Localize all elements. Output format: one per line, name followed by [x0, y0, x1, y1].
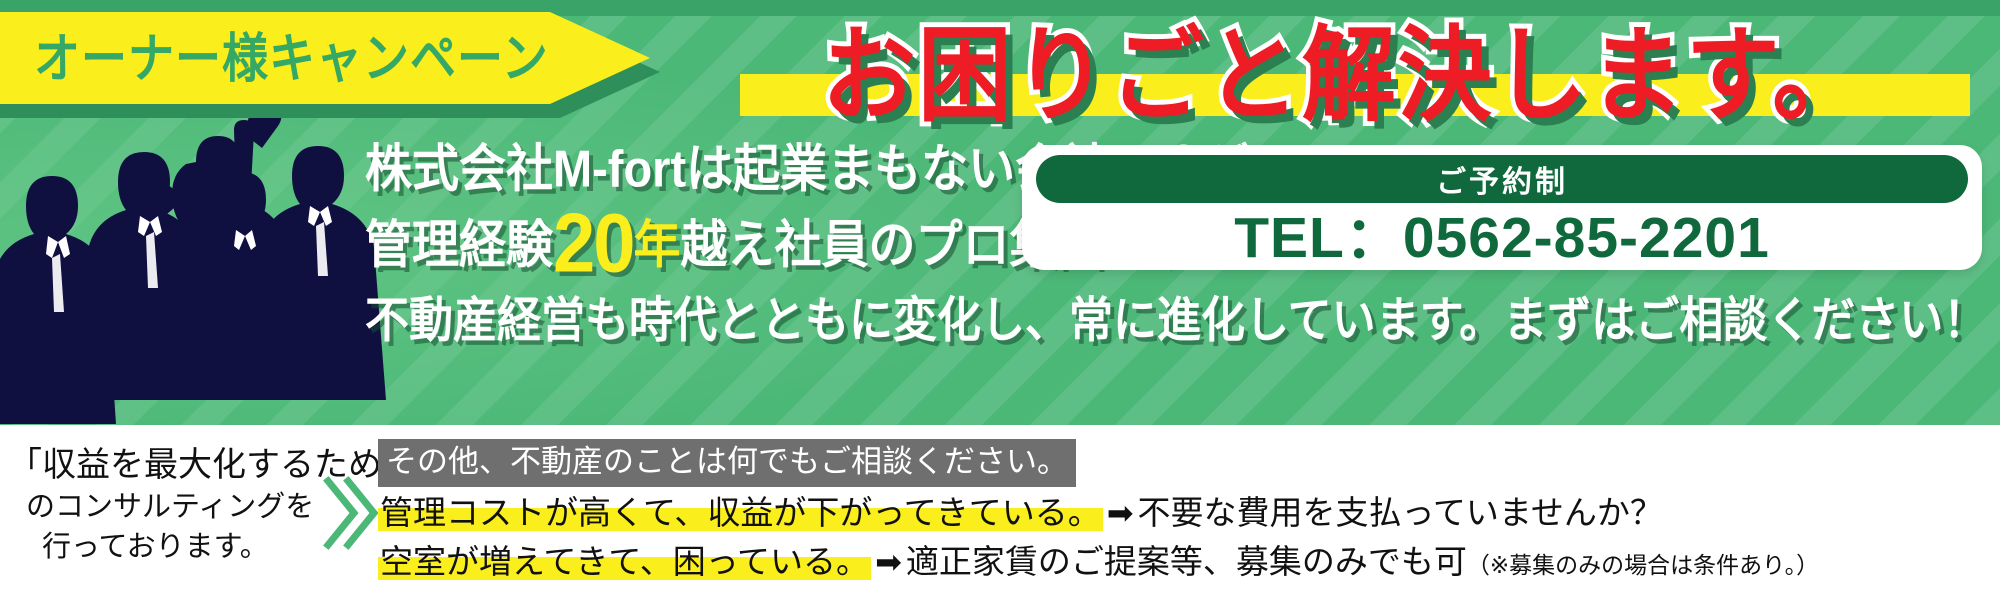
bullet-item-1: 管理コストが高くて、収益が下がってきている。➡不要な費用を支払っていませんか？ — [378, 490, 1988, 536]
arrow-icon: ➡ — [871, 544, 906, 580]
years-number: 20 — [553, 197, 634, 291]
headline-block: お困りごと解決します。 — [700, 8, 1990, 126]
headline-text: お困りごと解決します。 — [700, 2, 1990, 132]
bullet-list: その他、不動産のことは何でもご相談ください。 管理コストが高くて、収益が下がって… — [378, 439, 1988, 588]
bullet-2-problem: 空室が増えてきて、困っている。 — [378, 543, 871, 580]
telephone-box[interactable]: ご予約制 TEL：0562-85-2201 — [1022, 145, 1982, 270]
telephone-number[interactable]: TEL：0562-85-2201 — [1036, 207, 1968, 269]
bottom-section: 「収益を最大化するため」 のコンサルティングを 行っております。 その他、不動産… — [0, 425, 2000, 600]
campaign-ribbon: オーナー様キャンペーン — [0, 12, 680, 110]
reservation-badge: ご予約制 — [1036, 155, 1968, 203]
advertisement-banner: オーナー様キャンペーン お困りごと解決します。 株式会社M-fortは起業まもな… — [0, 0, 2000, 600]
bullet-2-solution: 適正家賃のご提案等、募集のみでも可 — [906, 543, 1467, 580]
hero-section: オーナー様キャンペーン お困りごと解決します。 株式会社M-fortは起業まもな… — [0, 0, 2000, 425]
consulting-text: 「収益を最大化するため」 のコンサルティングを 行っております。 — [8, 443, 338, 567]
ribbon-label: オーナー様キャンペーン — [34, 32, 549, 85]
bullet-item-2: 空室が増えてきて、困っている。➡適正家賃のご提案等、募集のみでも可（※募集のみの… — [378, 539, 1988, 588]
copy-line-2-prefix: 管理経験 — [365, 215, 553, 273]
consulting-line-3: 行っております。 — [42, 527, 338, 567]
arrow-icon: ➡ — [1103, 495, 1138, 531]
years-unit: 年 — [634, 215, 681, 273]
bullet-1-solution: 不要な費用を支払っていませんか？ — [1138, 494, 1663, 531]
double-chevron-icon — [322, 473, 378, 553]
copy-line-3: 不動産経営も時代とともに変化し、常に進化しています。まずはご相談ください！ — [365, 288, 1985, 354]
bullet-header-row: その他、不動産のことは何でもご相談ください。 — [378, 439, 1988, 487]
businesspeople-silhouette — [0, 70, 400, 425]
bullet-1-problem: 管理コストが高くて、収益が下がってきている。 — [378, 494, 1103, 531]
consulting-line-2: のコンサルティングを — [26, 487, 338, 527]
ribbon-body: オーナー様キャンペーン — [0, 12, 650, 104]
bullet-2-note: （※募集のみの場合は条件あり。） — [1467, 552, 1819, 578]
consulting-line-1: 「収益を最大化するため」 — [8, 443, 338, 487]
bullet-header: その他、不動産のことは何でもご相談ください。 — [378, 439, 1076, 487]
